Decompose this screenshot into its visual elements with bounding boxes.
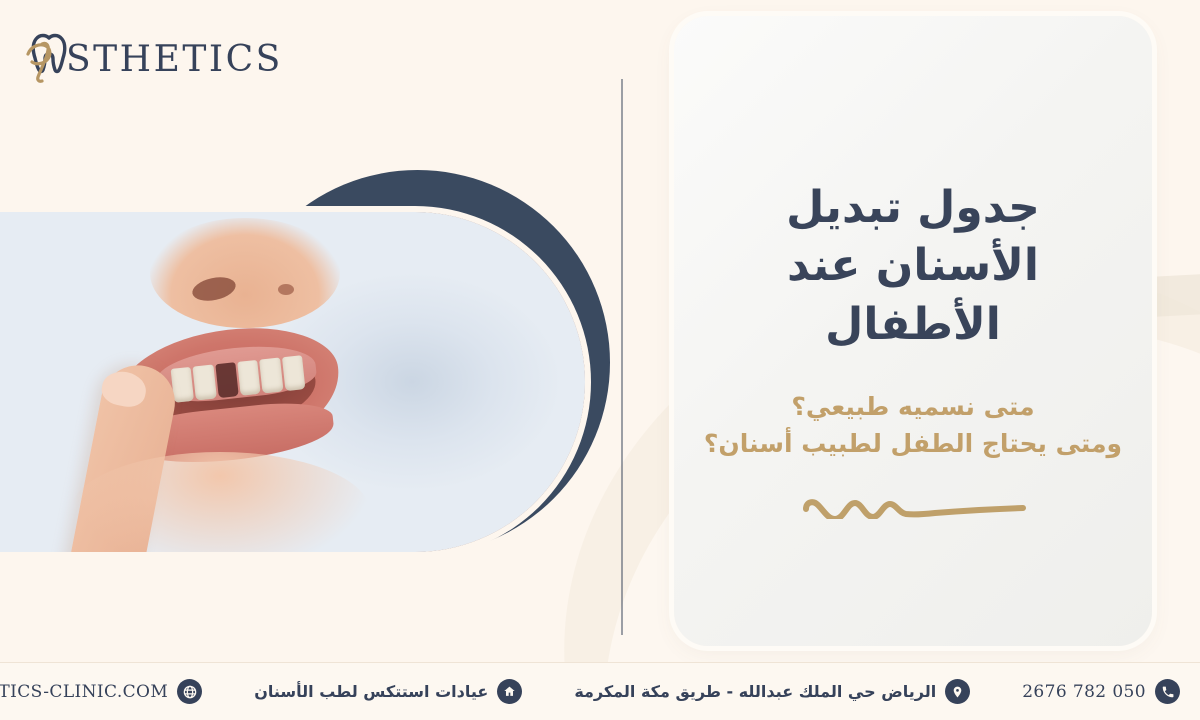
page-title: جدول تبديل الأسنان عند الأطفال <box>700 179 1126 353</box>
page-subtitle: متى نسميه طبيعي؟ ومتى يحتاج الطفل لطبيب … <box>704 388 1122 463</box>
footer-bar: 050 782 2676 الرياض حي الملك عبدالله - ط… <box>0 663 1200 720</box>
phone-icon <box>1155 679 1180 704</box>
hero-photo-image <box>0 212 585 552</box>
location-pin-icon <box>945 679 970 704</box>
footer-clinic-name[interactable]: عيادات استتكس لطب الأسنان <box>254 679 522 704</box>
footer-clinic-label: عيادات استتكس لطب الأسنان <box>254 682 488 701</box>
poster-canvas: STHETICS جدول <box>0 0 1200 720</box>
photo-detail-nose <box>150 218 340 328</box>
hero-photo-composition <box>0 160 620 590</box>
footer-website[interactable]: ESTHETICS-CLINIC.COM <box>0 679 202 704</box>
hero-photo-frame <box>0 212 585 552</box>
vertical-divider <box>621 79 623 635</box>
footer-address-label: الرياض حي الملك عبدالله - طريق مكة المكر… <box>574 682 936 701</box>
home-icon <box>497 679 522 704</box>
gold-wavy-underline-icon <box>800 485 1026 519</box>
content-panel: جدول تبديل الأسنان عند الأطفال متى نسميه… <box>674 16 1152 646</box>
brand-logo[interactable]: STHETICS <box>22 22 322 94</box>
footer-phone-label: 050 782 2676 <box>1022 682 1146 702</box>
footer-phone[interactable]: 050 782 2676 <box>1022 679 1180 704</box>
footer-website-label: ESTHETICS-CLINIC.COM <box>0 682 168 702</box>
globe-icon <box>177 679 202 704</box>
content-panel-body: جدول تبديل الأسنان عند الأطفال متى نسميه… <box>674 16 1152 646</box>
footer-address[interactable]: الرياض حي الملك عبدالله - طريق مكة المكر… <box>574 679 970 704</box>
photo-detail-nostril-right <box>278 284 294 295</box>
logo-wordmark: STHETICS <box>66 38 283 78</box>
